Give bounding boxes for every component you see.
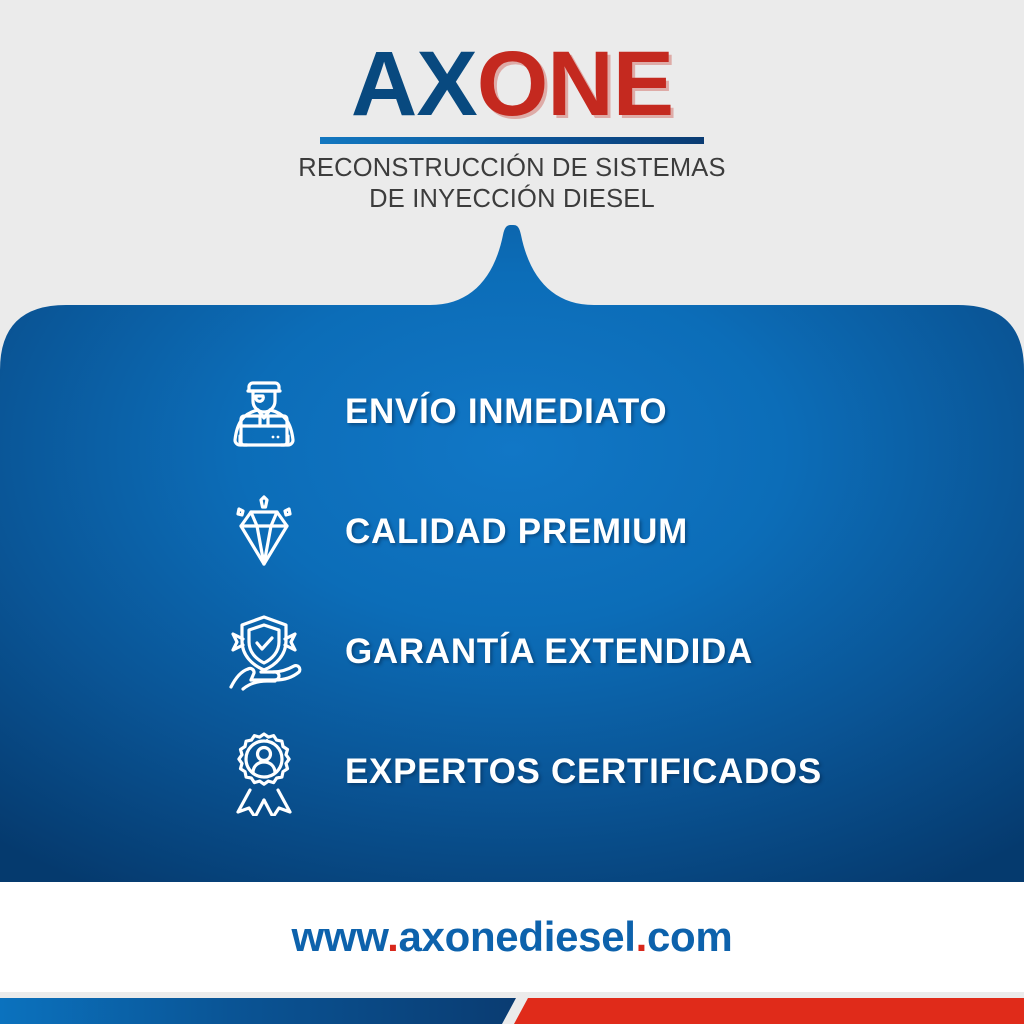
shield-check-hand-icon [218, 608, 310, 695]
feature-label: CALIDAD PREMIUM [345, 512, 688, 552]
logo-header: AXONE RECONSTRUCCIÓN DE SISTEMAS DE INYE… [0, 0, 1024, 232]
certified-badge-person-icon [218, 728, 310, 815]
delivery-person-box-icon [218, 368, 310, 455]
footer-bar-blue [0, 998, 516, 1024]
feature-item-envio-inmediato: ENVÍO INMEDIATO [218, 368, 1024, 455]
website-domain: axonediesel [398, 913, 635, 960]
promo-graphic: AXONE RECONSTRUCCIÓN DE SISTEMAS DE INYE… [0, 0, 1024, 1024]
feature-item-calidad-premium: CALIDAD PREMIUM [218, 488, 1024, 575]
feature-label: EXPERTOS CERTIFICADOS [345, 752, 822, 792]
website-dot-2: . [636, 913, 647, 960]
footer-accent-bar [0, 982, 1024, 1024]
logo-text-ax: AX [351, 33, 477, 135]
website-tld: com [647, 913, 732, 960]
feature-list: ENVÍO INMEDIATO CALIDAD PREMIUM [0, 368, 1024, 815]
logo-text-one: ONE [477, 33, 673, 135]
website-url[interactable]: www.axonediesel.com [292, 913, 733, 961]
website-dot-1: . [387, 913, 398, 960]
feature-item-garantia-extendida: GARANTÍA EXTENDIDA [218, 608, 1024, 695]
footer-bar-red [514, 998, 1024, 1024]
logo-divider-bar [320, 137, 704, 144]
feature-label: GARANTÍA EXTENDIDA [345, 632, 753, 672]
website-prefix: www [292, 913, 388, 960]
diamond-gem-icon [218, 488, 310, 575]
feature-item-expertos-certificados: EXPERTOS CERTIFICADOS [218, 728, 1024, 815]
feature-label: ENVÍO INMEDIATO [345, 392, 667, 432]
brand-tagline: RECONSTRUCCIÓN DE SISTEMAS DE INYECCIÓN … [298, 153, 725, 215]
website-band: www.axonediesel.com [0, 882, 1024, 992]
brand-logo: AXONE [351, 38, 673, 130]
